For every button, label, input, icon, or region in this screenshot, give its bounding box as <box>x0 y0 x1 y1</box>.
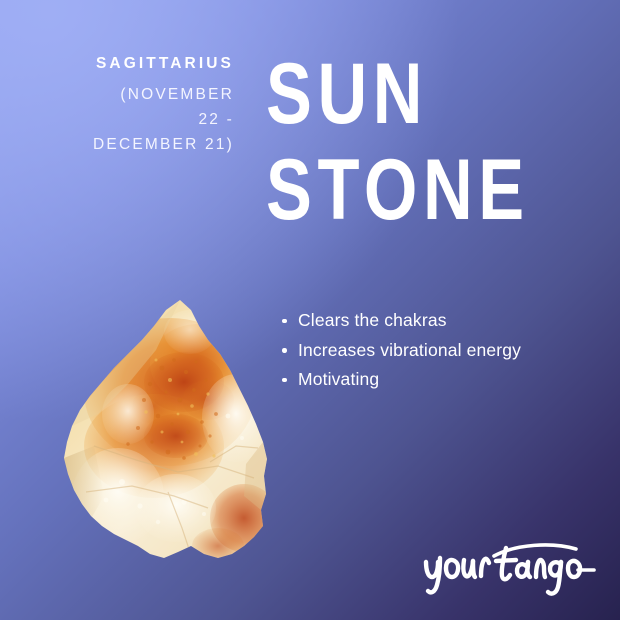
page-title: SUN STONE <box>266 46 530 238</box>
list-item-label: Increases vibrational energy <box>298 340 521 360</box>
bullet-icon <box>282 319 287 324</box>
zodiac-date-range: (NOVEMBER 22 - DECEMBER 21) <box>0 82 234 157</box>
page-title-line-1: SUN <box>266 46 530 142</box>
list-item: Clears the chakras <box>278 306 521 336</box>
zodiac-crystal-poster: SAGITTARIUS (NOVEMBER 22 - DECEMBER 21) … <box>0 0 620 620</box>
yourtango-logo[interactable]: yourtango <box>418 536 598 598</box>
zodiac-sign-label: SAGITTARIUS <box>0 54 234 73</box>
bullet-icon <box>282 378 287 383</box>
page-title-line-2: STONE <box>266 142 530 238</box>
list-item-label: Clears the chakras <box>298 310 447 330</box>
sunstone-crystal-image <box>58 296 274 562</box>
zodiac-caption: SAGITTARIUS (NOVEMBER 22 - DECEMBER 21) <box>0 54 234 157</box>
list-item-label: Motivating <box>298 369 379 389</box>
bullet-icon <box>282 348 287 353</box>
zodiac-date-line-3: DECEMBER 21) <box>0 132 234 157</box>
zodiac-date-line-1: (NOVEMBER <box>0 82 234 107</box>
list-item: Motivating <box>278 365 521 395</box>
zodiac-date-line-2: 22 - <box>0 107 234 132</box>
list-item: Increases vibrational energy <box>278 336 521 366</box>
benefits-list: Clears the chakras Increases vibrational… <box>278 306 521 395</box>
